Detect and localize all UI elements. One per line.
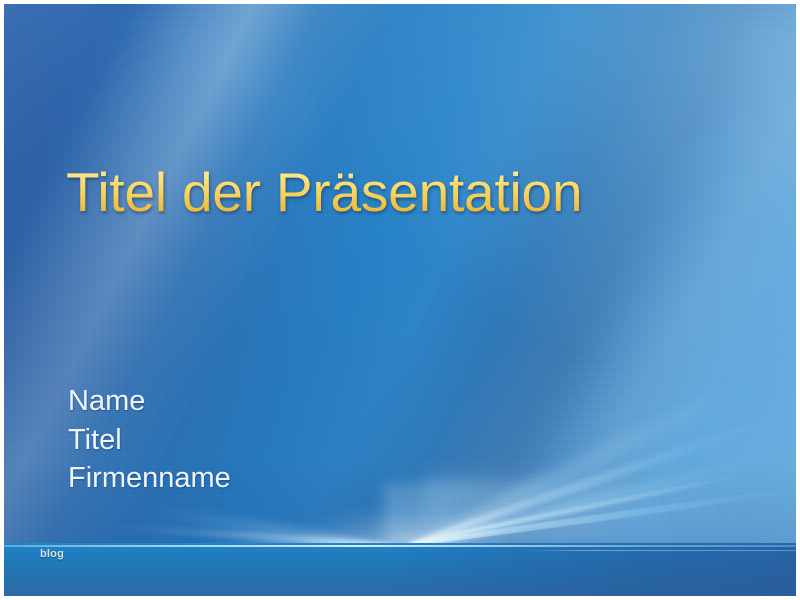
- subtitle-line-companyname: Firmenname: [68, 459, 231, 498]
- blog-watermark: blog: [40, 548, 64, 560]
- slide-title[interactable]: Titel der Präsentation: [66, 162, 726, 224]
- horizon-line-secondary: [524, 550, 796, 551]
- presentation-slide: Titel der Präsentation Name Titel Firmen…: [0, 0, 800, 600]
- aurora-light-rays: [4, 4, 796, 596]
- horizon-line: [4, 545, 796, 547]
- subtitle-line-name: Name: [68, 382, 231, 421]
- slide-canvas: Titel der Präsentation Name Titel Firmen…: [4, 4, 796, 596]
- slide-subtitle[interactable]: Name Titel Firmenname: [68, 382, 231, 498]
- subtitle-line-title: Titel: [68, 421, 231, 460]
